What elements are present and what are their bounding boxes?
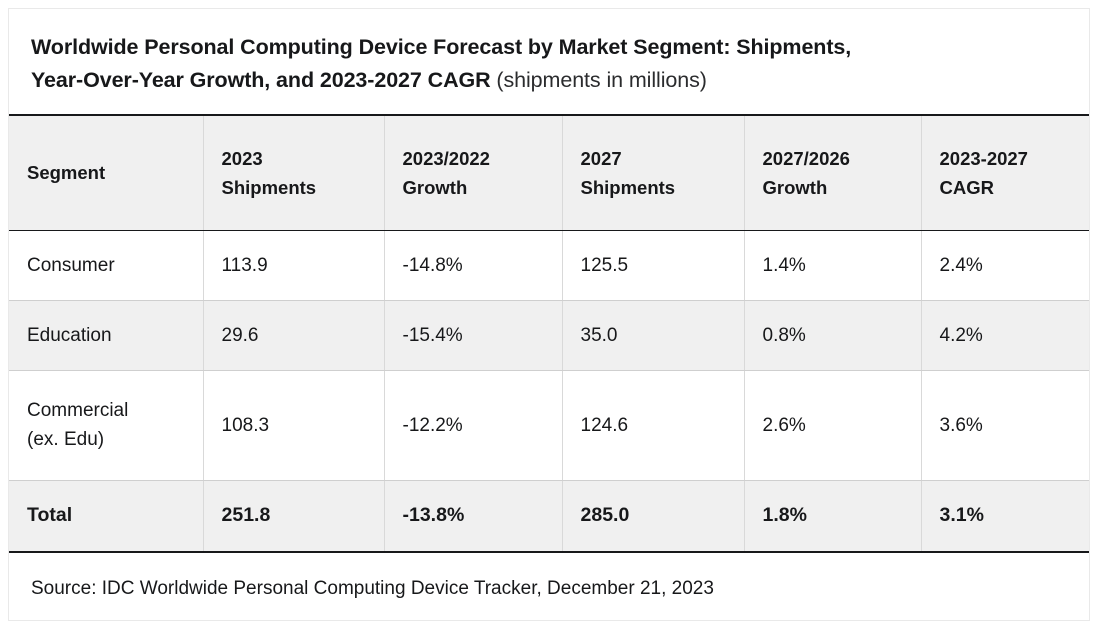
table-row-total: Total 251.8 -13.8% 285.0 1.8% 3.1% (9, 480, 1089, 552)
cell-shipments-2023: 29.6 (203, 300, 384, 370)
page-title-units-note: (shipments in millions) (491, 68, 707, 92)
column-header-segment-line-1: Segment (27, 158, 185, 187)
screenshot-root: Worldwide Personal Computing Device Fore… (0, 0, 1098, 630)
cell-growth-2027-2026: 0.8% (744, 300, 921, 370)
column-header-shipments-2023: 2023 Shipments (203, 115, 384, 230)
forecast-table-card: Worldwide Personal Computing Device Fore… (8, 8, 1090, 621)
cell-segment-line-2: (ex. Edu) (27, 425, 185, 454)
column-header-shipments-2027-line-2: Shipments (581, 173, 726, 202)
cell-segment-line-1: Commercial (27, 396, 185, 425)
page-title-line-2: Year-Over-Year Growth, and 2023-2027 CAG… (31, 64, 1067, 97)
cell-growth-2027-2026: 2.6% (744, 370, 921, 480)
column-header-growth-2027-2026-line-2: Growth (763, 173, 903, 202)
column-header-growth-2023-2022-line-1: 2023/2022 (403, 144, 544, 173)
column-header-cagr-2023-2027: 2023-2027 CAGR (921, 115, 1089, 230)
cell-growth-2027-2026: 1.4% (744, 230, 921, 300)
cell-cagr-2023-2027: 4.2% (921, 300, 1089, 370)
column-header-cagr-2023-2027-line-2: CAGR (940, 173, 1072, 202)
cell-cagr-2023-2027: 2.4% (921, 230, 1089, 300)
cell-shipments-2027: 125.5 (562, 230, 744, 300)
source-note: Source: IDC Worldwide Personal Computing… (9, 553, 1089, 603)
cell-growth-2027-2026-total: 1.8% (744, 480, 921, 552)
title-block: Worldwide Personal Computing Device Fore… (9, 9, 1089, 114)
cell-cagr-2023-2027-total: 3.1% (921, 480, 1089, 552)
column-header-shipments-2027-line-1: 2027 (581, 144, 726, 173)
forecast-table: Segment 2023 Shipments 2023/2022 Growth (9, 114, 1089, 553)
column-header-growth-2027-2026-line-1: 2027/2026 (763, 144, 903, 173)
table-header: Segment 2023 Shipments 2023/2022 Growth (9, 115, 1089, 230)
column-header-shipments-2027: 2027 Shipments (562, 115, 744, 230)
cell-shipments-2023: 108.3 (203, 370, 384, 480)
page-title-text-2: Year-Over-Year Growth, and 2023-2027 CAG… (31, 68, 491, 92)
column-header-shipments-2023-line-1: 2023 (222, 144, 366, 173)
table-row: Consumer 113.9 -14.8% 125.5 1.4% 2.4% (9, 230, 1089, 300)
cell-growth-2023-2022-total: -13.8% (384, 480, 562, 552)
cell-growth-2023-2022: -12.2% (384, 370, 562, 480)
cell-segment-line-1: Consumer (27, 251, 185, 280)
cell-growth-2023-2022: -14.8% (384, 230, 562, 300)
table-row: Education 29.6 -15.4% 35.0 0.8% 4.2% (9, 300, 1089, 370)
cell-segment-total: Total (9, 480, 203, 552)
cell-segment-line-1: Education (27, 321, 185, 350)
cell-shipments-2027: 124.6 (562, 370, 744, 480)
cell-shipments-2023-total: 251.8 (203, 480, 384, 552)
cell-segment: Education (9, 300, 203, 370)
cell-cagr-2023-2027: 3.6% (921, 370, 1089, 480)
cell-shipments-2023: 113.9 (203, 230, 384, 300)
table-body: Consumer 113.9 -14.8% 125.5 1.4% 2.4% Ed… (9, 230, 1089, 552)
column-header-segment: Segment (9, 115, 203, 230)
cell-segment: Commercial (ex. Edu) (9, 370, 203, 480)
cell-shipments-2027-total: 285.0 (562, 480, 744, 552)
page-title-line-1: Worldwide Personal Computing Device Fore… (31, 31, 1067, 64)
column-header-cagr-2023-2027-line-1: 2023-2027 (940, 144, 1072, 173)
table-row: Commercial (ex. Edu) 108.3 -12.2% 124.6 … (9, 370, 1089, 480)
column-header-growth-2023-2022-line-2: Growth (403, 173, 544, 202)
column-header-growth-2027-2026: 2027/2026 Growth (744, 115, 921, 230)
table-header-row: Segment 2023 Shipments 2023/2022 Growth (9, 115, 1089, 230)
column-header-shipments-2023-line-2: Shipments (222, 173, 366, 202)
cell-shipments-2027: 35.0 (562, 300, 744, 370)
column-header-growth-2023-2022: 2023/2022 Growth (384, 115, 562, 230)
page-title-text-1: Worldwide Personal Computing Device Fore… (31, 35, 851, 59)
cell-segment: Consumer (9, 230, 203, 300)
cell-growth-2023-2022: -15.4% (384, 300, 562, 370)
